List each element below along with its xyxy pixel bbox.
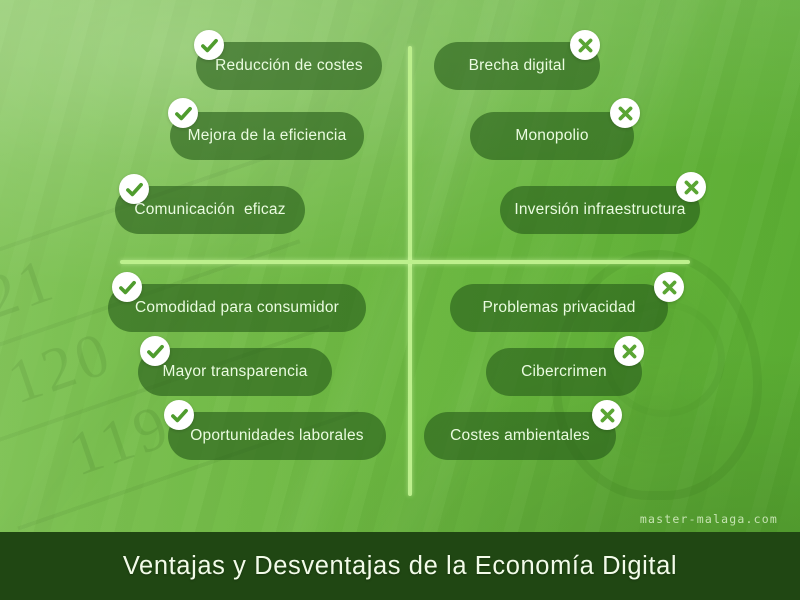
x-circle-icon [592,400,622,430]
footer-bar: Ventajas y Desventajas de la Economía Di… [0,532,800,600]
disadvantage-label-3: Inversión infraestructura [500,186,700,234]
x-circle-icon [614,336,644,366]
check-circle-icon [119,174,149,204]
advantage-label-2: Mejora de la eficiencia [170,112,364,160]
disadvantage-item-5[interactable]: Cibercrimen [486,348,642,396]
check-circle-icon [168,98,198,128]
disadvantage-item-4[interactable]: Problemas privacidad [450,284,668,332]
check-circle-icon [194,30,224,60]
page-title: Ventajas y Desventajas de la Economía Di… [123,552,677,581]
check-circle-icon [140,336,170,366]
disadvantage-item-1[interactable]: Brecha digital [434,42,600,90]
advantage-label-4: Comodidad para consumidor [108,284,366,332]
check-circle-icon [112,272,142,302]
x-circle-icon [654,272,684,302]
disadvantage-label-6: Costes ambientales [424,412,616,460]
advantage-item-2[interactable]: Mejora de la eficiencia [170,112,364,160]
advantage-item-5[interactable]: Mayor transparencia [138,348,332,396]
infographic-canvas: 122 121 120 119 Reducción de costes Mejo… [0,0,800,600]
divider-horizontal [120,260,690,264]
disadvantage-item-2[interactable]: Monopolio [470,112,634,160]
advantage-item-4[interactable]: Comodidad para consumidor [108,284,366,332]
disadvantage-label-4: Problemas privacidad [450,284,668,332]
disadvantage-item-6[interactable]: Costes ambientales [424,412,616,460]
advantage-item-3[interactable]: Comunicación eficaz [115,186,305,234]
x-circle-icon [570,30,600,60]
advantage-label-1: Reducción de costes [196,42,382,90]
disadvantage-label-2: Monopolio [470,112,634,160]
divider-vertical [408,46,412,496]
watermark: master-malaga.com [640,512,778,526]
x-circle-icon [676,172,706,202]
advantage-label-6: Oportunidades laborales [168,412,386,460]
x-circle-icon [610,98,640,128]
advantage-item-1[interactable]: Reducción de costes [196,42,382,90]
disadvantage-item-3[interactable]: Inversión infraestructura [500,186,700,234]
advantage-item-6[interactable]: Oportunidades laborales [168,412,386,460]
check-circle-icon [164,400,194,430]
